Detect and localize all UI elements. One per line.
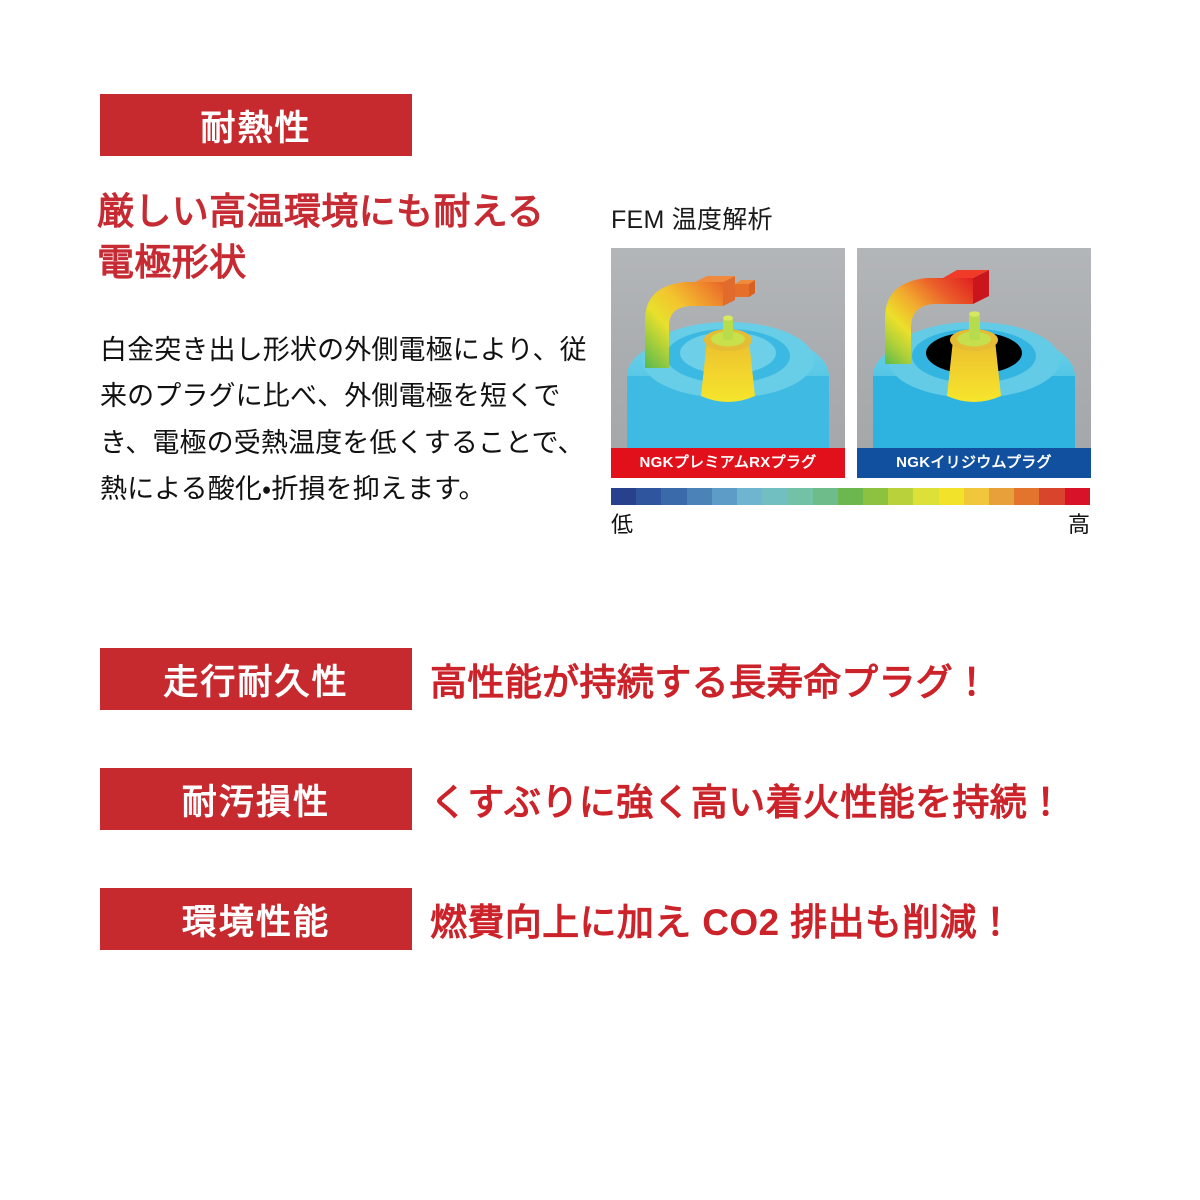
scale-segment-11 bbox=[888, 488, 913, 505]
scale-segment-0 bbox=[611, 488, 636, 505]
scale-segment-2 bbox=[661, 488, 686, 505]
badge-heat-resistance: 耐熱性 bbox=[100, 94, 412, 156]
feature-text-fouling-resistance: くすぶりに強く高い着火性能を持続！ bbox=[430, 768, 1065, 830]
thermal-render-iridium bbox=[857, 248, 1091, 448]
scale-segment-10 bbox=[863, 488, 888, 505]
scale-segment-17 bbox=[1039, 488, 1064, 505]
scale-segment-14 bbox=[964, 488, 989, 505]
feature-text-environmental-performance: 燃費向上に加え CO2 排出も削減！ bbox=[430, 888, 1014, 950]
heat-body-text: 白金突き出し形状の外側電極により、従来のプラグに比べ、外側電極を短くでき、電極の… bbox=[100, 327, 600, 513]
scale-segment-1 bbox=[636, 488, 661, 505]
scale-segment-16 bbox=[1014, 488, 1039, 505]
heat-resistance-section: 耐熱性 厳しい高温環境にも耐える 電極形状 白金突き出し形状の外側電極により、従… bbox=[0, 0, 1200, 600]
temperature-scale-labels: 低 高 bbox=[611, 507, 1090, 539]
temperature-scale-bar bbox=[611, 488, 1090, 505]
badge-fouling-resistance: 耐汚損性 bbox=[100, 768, 412, 830]
heat-headline: 厳しい高温環境にも耐える 電極形状 bbox=[97, 186, 617, 288]
heat-headline-line2: 電極形状 bbox=[97, 237, 617, 288]
scale-segment-13 bbox=[939, 488, 964, 505]
scale-segment-12 bbox=[913, 488, 938, 505]
scale-segment-18 bbox=[1065, 488, 1090, 505]
feature-row-fouling: 耐汚損性 くすぶりに強く高い着火性能を持続！ bbox=[0, 768, 1200, 888]
scale-segment-5 bbox=[737, 488, 762, 505]
fem-panel-iridium: NGKイリジウムプラグ bbox=[857, 248, 1091, 478]
fem-panel-premium-rx: NGKプレミアムRXプラグ bbox=[611, 248, 845, 478]
feature-row-environment: 環境性能 燃費向上に加え CO2 排出も削減！ bbox=[0, 888, 1200, 1008]
scale-segment-9 bbox=[838, 488, 863, 505]
scale-segment-8 bbox=[813, 488, 838, 505]
fem-panel-group: NGKプレミアムRXプラグ bbox=[611, 248, 1090, 478]
badge-environmental-performance: 環境性能 bbox=[100, 888, 412, 950]
scale-label-low: 低 bbox=[611, 507, 633, 539]
fem-title: FEM 温度解析 bbox=[611, 200, 1090, 236]
feature-list: 走行耐久性 高性能が持続する長寿命プラグ！ 耐汚損性 くすぶりに強く高い着火性能… bbox=[0, 648, 1200, 1008]
scale-label-high: 高 bbox=[1068, 507, 1090, 539]
scale-segment-6 bbox=[762, 488, 787, 505]
fem-analysis-block: FEM 温度解析 bbox=[611, 200, 1090, 539]
heat-headline-line1: 厳しい高温環境にも耐える bbox=[97, 186, 617, 237]
scale-segment-4 bbox=[712, 488, 737, 505]
fem-caption-premium-rx: NGKプレミアムRXプラグ bbox=[611, 448, 845, 478]
scale-segment-15 bbox=[989, 488, 1014, 505]
scale-segment-7 bbox=[787, 488, 812, 505]
thermal-image-iridium bbox=[857, 248, 1091, 448]
thermal-image-premium-rx bbox=[611, 248, 845, 448]
scale-segment-3 bbox=[687, 488, 712, 505]
badge-driving-durability: 走行耐久性 bbox=[100, 648, 412, 710]
fem-caption-iridium: NGKイリジウムプラグ bbox=[857, 448, 1091, 478]
feature-text-driving-durability: 高性能が持続する長寿命プラグ！ bbox=[430, 648, 991, 710]
thermal-render-rx bbox=[611, 248, 845, 448]
feature-row-durability: 走行耐久性 高性能が持続する長寿命プラグ！ bbox=[0, 648, 1200, 768]
